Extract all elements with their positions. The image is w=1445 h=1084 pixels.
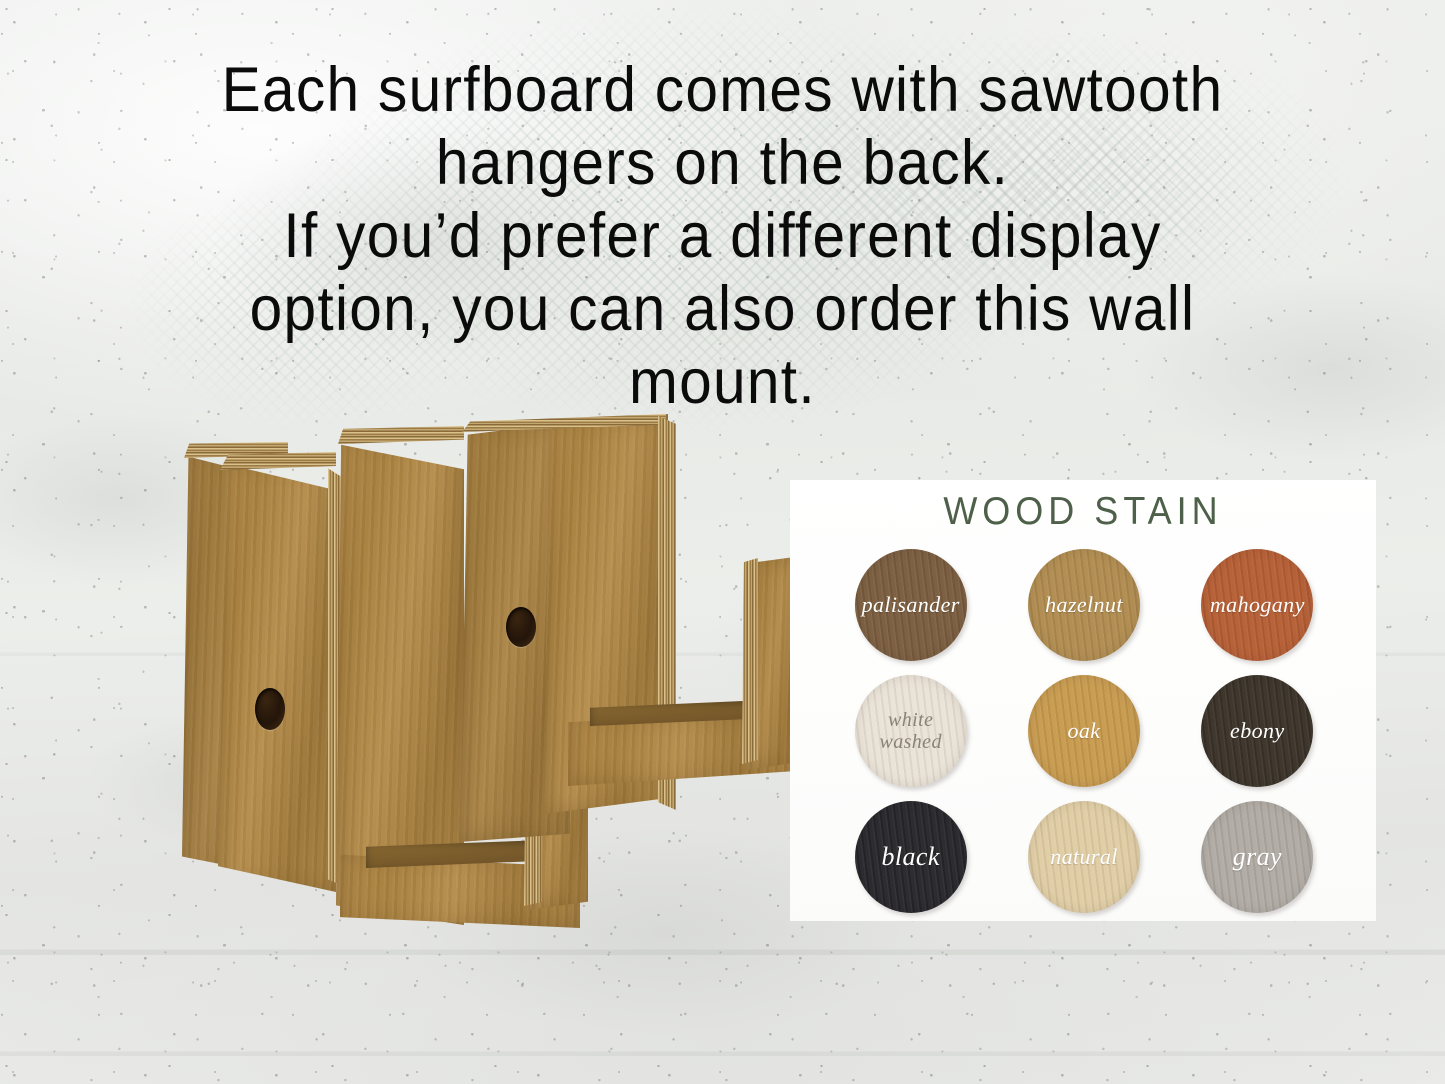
stain-swatch-label: mahogany <box>1210 594 1305 616</box>
wood-stain-swatch-grid: palisanderhazelnutmahoganywhite washedoa… <box>824 542 1344 920</box>
stain-swatch-palisander[interactable]: palisander <box>855 549 967 661</box>
bracket-right-hook-lip-ply-edge <box>742 558 758 764</box>
stain-swatch-label: palisander <box>862 594 960 616</box>
stain-swatch-oak[interactable]: oak <box>1028 675 1140 787</box>
headline-text: Each surfboard comes with sawtooth hange… <box>51 54 1395 419</box>
stain-swatch-label: natural <box>1050 846 1118 868</box>
stain-swatch-black[interactable]: black <box>855 801 967 913</box>
product-graphic: Each surfboard comes with sawtooth hange… <box>0 0 1445 1084</box>
bracket-left-top-ply-edge <box>220 452 336 470</box>
stain-swatch-hazelnut[interactable]: hazelnut <box>1028 549 1140 661</box>
wood-stain-title: WOOD STAIN <box>790 488 1376 533</box>
bracket-left-visible-screw-hole <box>255 688 285 730</box>
stain-swatch-label: hazelnut <box>1045 594 1123 616</box>
stain-swatch-label: white washed <box>879 709 941 753</box>
bracket-right-screw-hole <box>506 607 536 647</box>
bracket-left-hook-top-edge <box>338 426 464 444</box>
stain-swatch-label: black <box>882 846 940 868</box>
stain-swatch-label: ebony <box>1230 720 1285 742</box>
bracket-left-backplate <box>218 460 336 892</box>
stain-swatch-gray[interactable]: gray <box>1201 801 1313 913</box>
stain-swatch-natural[interactable]: natural <box>1028 801 1140 913</box>
stain-swatch-mahogany[interactable]: mahogany <box>1201 549 1313 661</box>
wall-mount-bracket-photo <box>150 400 830 980</box>
stain-swatch-label: gray <box>1233 846 1282 868</box>
stain-swatch-white-washed[interactable]: white washed <box>855 675 967 787</box>
stain-swatch-ebony[interactable]: ebony <box>1201 675 1313 787</box>
wood-stain-card: WOOD STAIN palisanderhazelnutmahoganywhi… <box>790 480 1376 921</box>
stain-swatch-label: oak <box>1068 720 1101 742</box>
